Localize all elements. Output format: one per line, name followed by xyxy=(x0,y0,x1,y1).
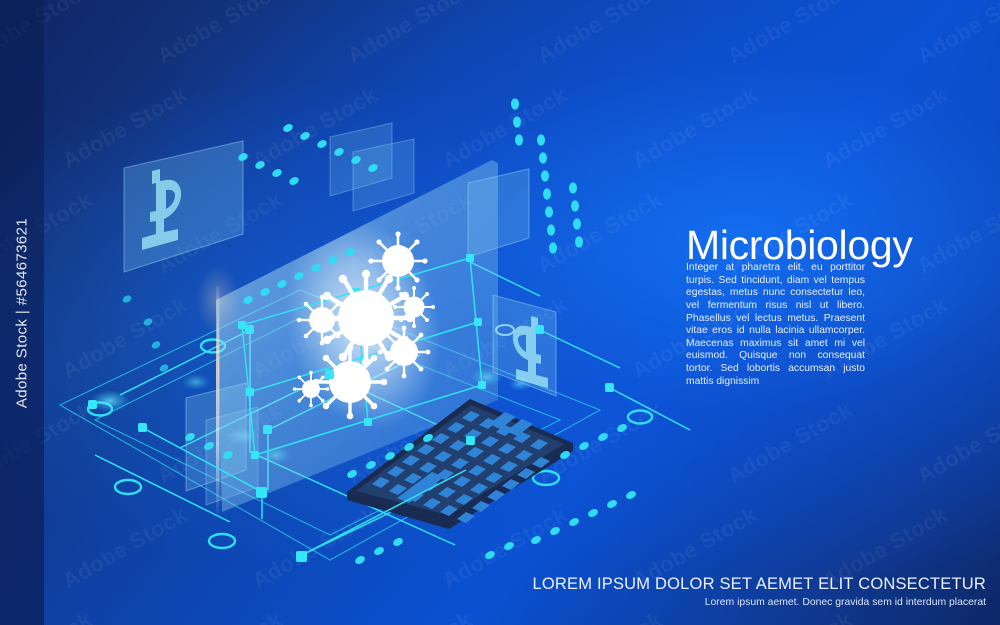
illustration-canvas: Adobe StockAdobe StockAdobe StockAdobe S… xyxy=(0,0,1000,625)
page-title: Microbiology xyxy=(686,224,913,267)
virus-bottom xyxy=(313,345,388,420)
footer-subline: Lorem ipsum aemet. Donec gravida sem id … xyxy=(0,597,986,608)
virus-mid-right xyxy=(378,326,431,379)
footer-headline: LOREM IPSUM DOLOR SET AEMET ELIT CONSECT… xyxy=(0,575,986,594)
glass-panel-back-left xyxy=(124,141,243,272)
virus-bottom-left xyxy=(293,371,330,408)
body-paragraph: Integer at pharetra elit, eu porttitor t… xyxy=(686,262,865,388)
stock-credit-text: Adobe Stock | #564673621 xyxy=(14,217,31,407)
virus-top xyxy=(368,231,427,290)
stock-credit-bar: Adobe Stock | #564673621 xyxy=(0,0,44,625)
